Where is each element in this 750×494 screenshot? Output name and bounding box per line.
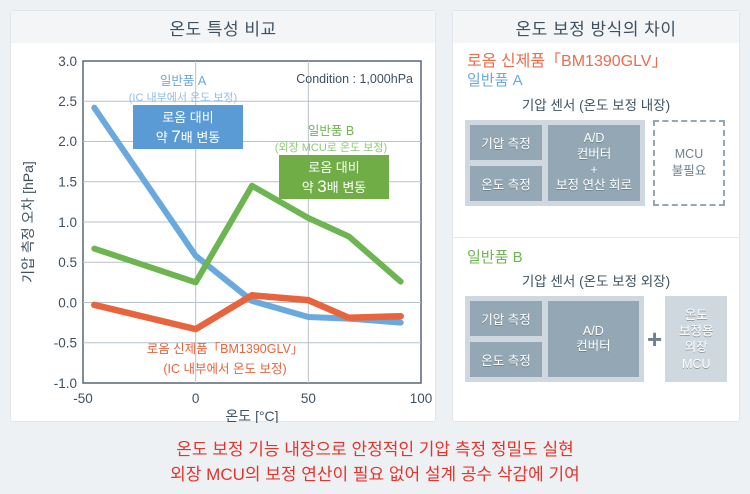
mcu-line-1: 온도 bbox=[679, 307, 714, 323]
svg-text:0.5: 0.5 bbox=[58, 255, 77, 270]
diagram-external: 기압 측정 온도 측정 A/D 컨버터 + 온도 보정용 bbox=[465, 296, 727, 382]
badge-general-b: 로옴 대비 약 3배 변동 bbox=[279, 155, 389, 199]
svg-text:-0.5: -0.5 bbox=[54, 336, 77, 351]
measure-column-external: 기압 측정 온도 측정 bbox=[470, 301, 542, 377]
diagram-block-rohm: 로옴 신제품「BM1390GLV」 일반품 A 기압 센서 (온도 보정 내장)… bbox=[465, 53, 727, 229]
x-axis-title: 온도 [°C] bbox=[225, 408, 278, 423]
line-chart-svg: 3.0 2.5 2.0 1.5 1.0 0.5 0.0 -0.5 -1.0 -5… bbox=[11, 43, 437, 423]
anno-rohm-title: 로옴 신제품「BM1390GLV」 bbox=[147, 342, 304, 356]
footer-line-1: 온도 보정 기능 내장으로 안정적인 기압 측정 정밀도 실현 bbox=[176, 437, 574, 463]
svg-text:50: 50 bbox=[301, 391, 316, 406]
cell-adc: A/D 컨버터 bbox=[548, 301, 639, 377]
caption-sensor-internal: 기압 센서 (온도 보정 내장) bbox=[465, 94, 727, 114]
svg-text:2.0: 2.0 bbox=[58, 134, 77, 149]
anno-rohm-sub: (IC 내부에서 온도 보정) bbox=[163, 362, 286, 376]
svg-text:-1.0: -1.0 bbox=[54, 376, 77, 391]
mcu-line-1: MCU bbox=[672, 146, 707, 162]
condition-label: Condition : 1,000hPa bbox=[296, 72, 413, 86]
diagram-panel-title: 온도 보정 방식의 차이 bbox=[453, 11, 739, 43]
cell-adc-with-correction: A/D 컨버터 + 보정 연산 회로 bbox=[548, 125, 640, 201]
cell-temperature-measure: 온도 측정 bbox=[470, 342, 542, 377]
sensor-box-internal: 기압 측정 온도 측정 A/D 컨버터 + 보정 연산 회로 bbox=[465, 120, 645, 206]
cell-external-mcu: 온도 보정용 외장 MCU bbox=[665, 296, 727, 382]
cell-pressure-measure: 기압 측정 bbox=[470, 301, 542, 336]
svg-text:약 3배 변동: 약 3배 변동 bbox=[302, 177, 367, 196]
measure-column-internal: 기압 측정 온도 측정 bbox=[470, 125, 542, 201]
footer-line-2: 외장 MCU의 보정 연산이 필요 없어 설계 공수 삭감에 기여 bbox=[170, 462, 580, 488]
anno-general-a-sub: (IC 내부에서 온도 보정) bbox=[129, 91, 237, 104]
diagram-panel: 온도 보정 방식의 차이 로옴 신제품「BM1390GLV」 일반품 A 기압 … bbox=[452, 10, 740, 422]
mcu-line-2: 보정용 bbox=[679, 323, 714, 339]
y-axis-title: 기압 측정 오차 [hPa] bbox=[20, 161, 36, 283]
svg-text:0: 0 bbox=[192, 391, 200, 406]
label-rohm-product: 로옴 신제품「BM1390GLV」 bbox=[467, 53, 727, 71]
diagram-block-general-b: 일반품 B 기압 센서 (온도 보정 외장) 기압 측정 온도 측정 A/D 컨… bbox=[465, 249, 727, 409]
mcu-line-2: 불필요 bbox=[672, 163, 707, 179]
plus-icon: + bbox=[644, 296, 666, 382]
svg-text:-50: -50 bbox=[73, 391, 93, 406]
svg-text:로옴 대비: 로옴 대비 bbox=[162, 110, 213, 125]
mcu-line-3: 외장 bbox=[679, 339, 714, 355]
svg-text:약 7배 변동: 약 7배 변동 bbox=[156, 127, 221, 146]
sensor-box-external: 기압 측정 온도 측정 A/D 컨버터 bbox=[465, 296, 644, 382]
svg-text:로옴 대비: 로옴 대비 bbox=[308, 160, 359, 175]
anno-general-a-title: 일반품 A bbox=[160, 74, 207, 88]
adc-line-4: 보정 연산 회로 bbox=[556, 178, 632, 194]
svg-text:100: 100 bbox=[410, 391, 433, 406]
cell-mcu-not-required: MCU 불필요 bbox=[653, 120, 725, 206]
footer-summary: 온도 보정 기능 내장으로 안정적인 기압 측정 정밀도 실현 외장 MCU의 … bbox=[0, 430, 750, 494]
caption-sensor-external: 기압 센서 (온도 보정 외장) bbox=[465, 270, 727, 290]
adc-line-1: A/D bbox=[576, 324, 611, 340]
label-general-a: 일반품 A bbox=[467, 72, 727, 89]
badge-general-a: 로옴 대비 약 7배 변동 bbox=[133, 105, 243, 149]
cell-temperature-measure: 온도 측정 bbox=[470, 166, 542, 201]
y-axis-ticks: 3.0 2.5 2.0 1.5 1.0 0.5 0.0 -0.5 -1.0 bbox=[54, 54, 77, 391]
chart-area: 3.0 2.5 2.0 1.5 1.0 0.5 0.0 -0.5 -1.0 -5… bbox=[11, 43, 435, 421]
adc-line-2: 컨버터 bbox=[576, 339, 611, 355]
chart-panel-title: 온도 특성 비교 bbox=[11, 11, 435, 43]
diagram-internal: 기압 측정 온도 측정 A/D 컨버터 + 보정 연산 회로 bbox=[465, 120, 727, 206]
anno-general-b-title: 일반품 B bbox=[308, 124, 354, 138]
x-axis-ticks: -50 0 50 100 bbox=[73, 391, 432, 406]
mcu-line-4: MCU bbox=[679, 356, 714, 372]
anno-general-b-sub: (외장 MCU로 온도 보정) bbox=[275, 141, 387, 154]
adc-line-3: + bbox=[556, 163, 632, 179]
slide-root: 온도 특성 비교 bbox=[0, 0, 750, 494]
label-general-b: 일반품 B bbox=[467, 249, 727, 266]
chart-panel: 온도 특성 비교 bbox=[10, 10, 436, 422]
adc-line-1: A/D bbox=[556, 131, 632, 147]
panel-divider bbox=[453, 237, 739, 238]
svg-text:0.0: 0.0 bbox=[58, 296, 77, 311]
cell-pressure-measure: 기압 측정 bbox=[470, 125, 542, 160]
svg-text:3.0: 3.0 bbox=[58, 54, 77, 69]
svg-text:2.5: 2.5 bbox=[58, 94, 77, 109]
svg-text:1.5: 1.5 bbox=[58, 175, 77, 190]
adc-line-2: 컨버터 bbox=[556, 147, 632, 163]
svg-text:1.0: 1.0 bbox=[58, 215, 77, 230]
